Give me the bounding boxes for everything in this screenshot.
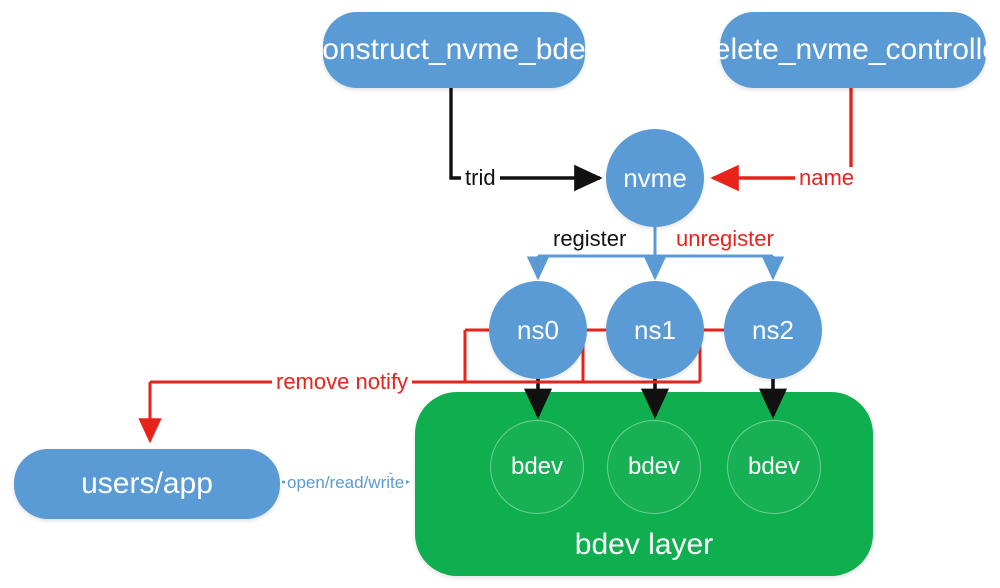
edge-label-name: name xyxy=(795,167,858,189)
edge-label-register: register xyxy=(549,228,630,250)
node-ns2[interactable]: ns2 xyxy=(724,281,822,379)
edge-label-trid: trid xyxy=(461,167,500,189)
node-ns1[interactable]: ns1 xyxy=(606,281,704,379)
node-delete-label: delete_nvme_controller xyxy=(697,32,1000,67)
edge-label-unregister: unregister xyxy=(672,228,778,250)
diagram-canvas: bdev bdev bdev bdev layer xyxy=(0,0,1000,588)
edge-label-remove-notify: remove notify xyxy=(272,371,412,393)
node-construct-label: construct_nvme_bdev xyxy=(307,32,601,67)
node-ns2-label: ns2 xyxy=(752,315,794,346)
edge-label-open-read-write: open/read/write xyxy=(285,474,406,491)
node-ns1-label: ns1 xyxy=(634,315,676,346)
node-ns0-label: ns0 xyxy=(517,315,559,346)
node-users-label: users/app xyxy=(81,466,213,501)
node-construct-nvme-bdev[interactable]: construct_nvme_bdev xyxy=(323,12,585,88)
node-users-app[interactable]: users/app xyxy=(14,449,280,519)
node-nvme[interactable]: nvme xyxy=(606,129,704,227)
node-delete-nvme-controller[interactable]: delete_nvme_controller xyxy=(720,12,986,88)
node-nvme-label: nvme xyxy=(623,163,687,194)
node-ns0[interactable]: ns0 xyxy=(489,281,587,379)
